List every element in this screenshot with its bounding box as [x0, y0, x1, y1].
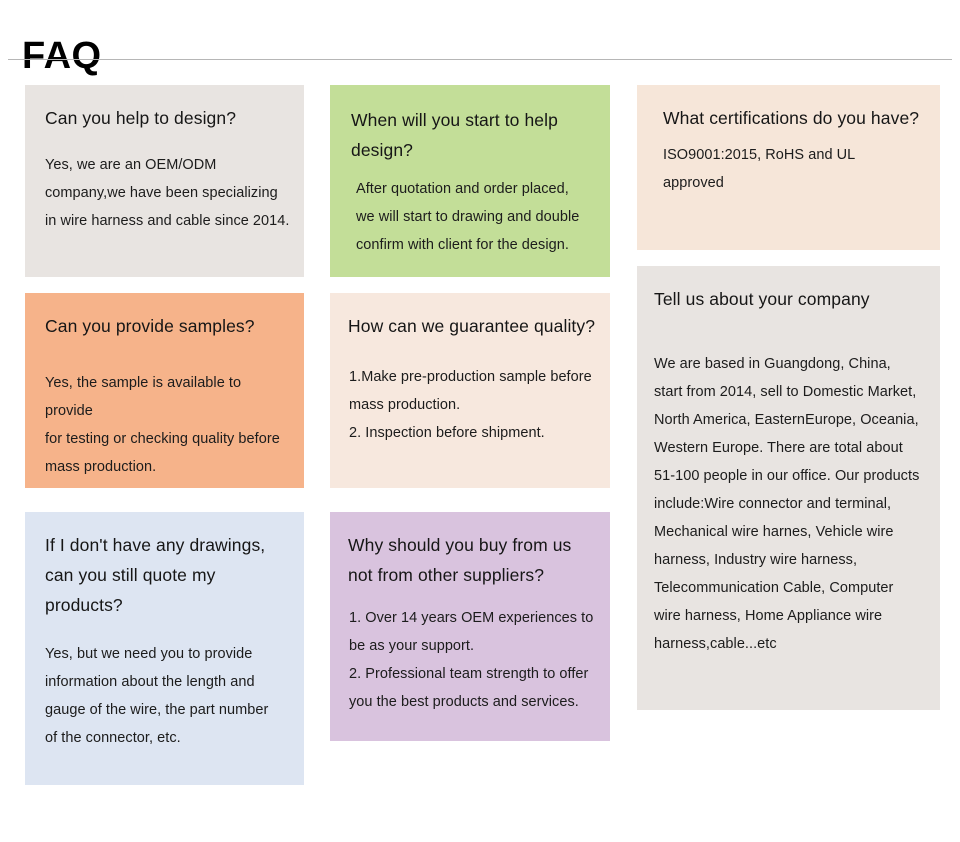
faq-card-company: Tell us about your company We are based …	[637, 266, 940, 710]
faq-question: Tell us about your company	[648, 284, 926, 314]
faq-card-certifications: What certifications do you have? ISO9001…	[637, 85, 940, 250]
faq-card-drawings: If I don't have any drawings, can you st…	[25, 512, 304, 785]
page-title: FAQ	[22, 33, 102, 79]
faq-card-samples: Can you provide samples? Yes, the sample…	[25, 293, 304, 488]
faq-card-start-design: When will you start to help design? Afte…	[330, 85, 610, 277]
faq-answer: We are based in Guangdong, China, start …	[648, 350, 926, 658]
faq-question: Can you provide samples?	[39, 311, 290, 341]
faq-question: What certifications do you have?	[657, 103, 926, 133]
faq-answer: Yes, we are an OEM/ODM company,we have b…	[39, 151, 290, 235]
faq-answer: Yes, but we need you to provide informat…	[39, 640, 290, 752]
faq-question: When will you start to help design?	[344, 105, 596, 165]
faq-card-quality: How can we guarantee quality? 1.Make pre…	[330, 293, 610, 488]
faq-question: How can we guarantee quality?	[341, 311, 596, 341]
faq-answer: 1. Over 14 years OEM experiences to be a…	[341, 604, 596, 716]
faq-answer: 1.Make pre-production sample before mass…	[341, 363, 596, 447]
faq-question: If I don't have any drawings, can you st…	[39, 530, 290, 620]
faq-answer: Yes, the sample is available to provide …	[39, 369, 290, 481]
faq-answer: ISO9001:2015, RoHS and UL approved	[657, 141, 926, 197]
faq-card-why-us: Why should you buy from us not from othe…	[330, 512, 610, 741]
faq-answer: After quotation and order placed, we wil…	[344, 175, 596, 259]
faq-question: Why should you buy from us not from othe…	[341, 530, 596, 590]
faq-card-design: Can you help to design? Yes, we are an O…	[25, 85, 304, 277]
faq-page: FAQ Can you help to design? Yes, we are …	[0, 0, 960, 842]
title-divider	[8, 59, 952, 60]
faq-question: Can you help to design?	[39, 103, 290, 133]
